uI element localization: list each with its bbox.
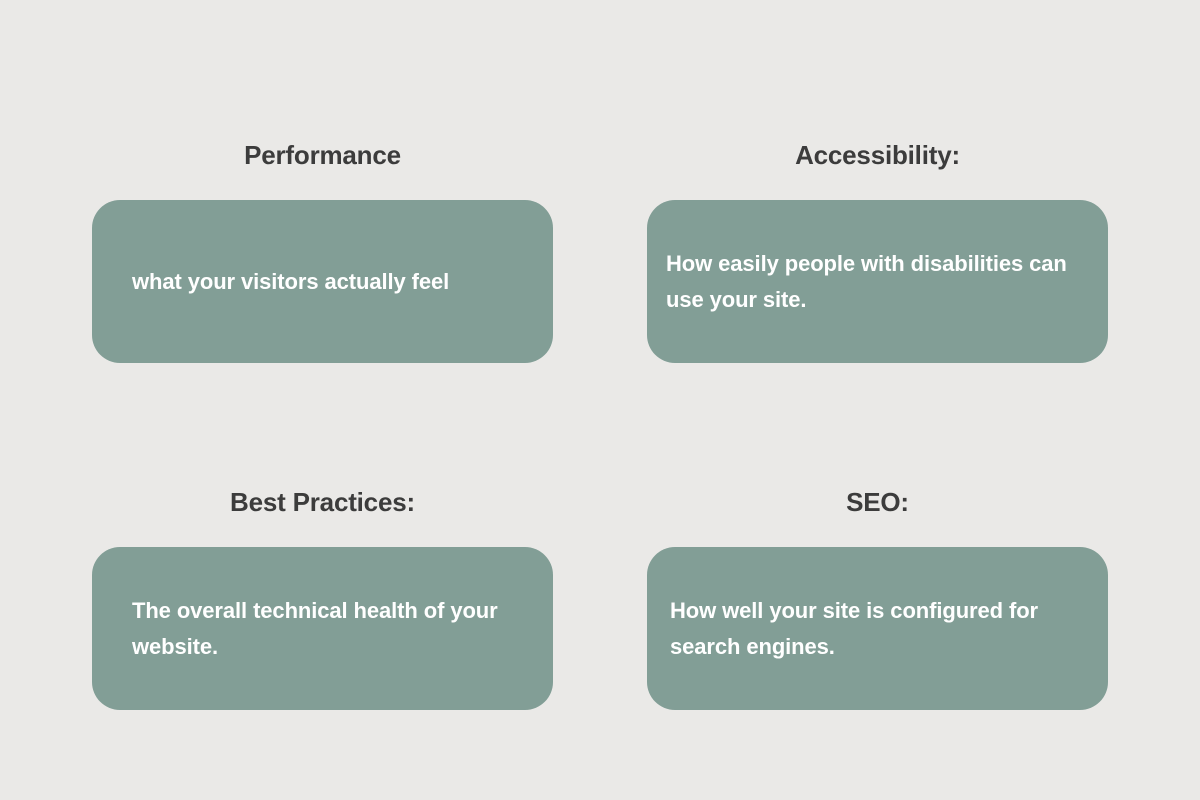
card-cell-performance: Performance what your visitors actually … — [92, 140, 553, 363]
cards-board: Performance what your visitors actually … — [0, 0, 1200, 800]
cards-grid: Performance what your visitors actually … — [92, 140, 1108, 710]
card-accessibility[interactable]: How easily people with disabilities can … — [647, 200, 1108, 363]
card-cell-seo: SEO: How well your site is configured fo… — [647, 487, 1108, 710]
card-cell-accessibility: Accessibility: How easily people with di… — [647, 140, 1108, 363]
card-heading-seo: SEO: — [647, 487, 1108, 518]
card-body-best-practices: The overall technical health of your web… — [92, 593, 553, 664]
card-body-accessibility: How easily people with disabilities can … — [647, 246, 1108, 317]
card-heading-performance: Performance — [92, 140, 553, 171]
card-heading-best-practices: Best Practices: — [92, 487, 553, 518]
card-body-performance: what your visitors actually feel — [92, 264, 485, 300]
card-heading-accessibility: Accessibility: — [647, 140, 1108, 171]
card-performance[interactable]: what your visitors actually feel — [92, 200, 553, 363]
card-seo[interactable]: How well your site is configured for sea… — [647, 547, 1108, 710]
card-best-practices[interactable]: The overall technical health of your web… — [92, 547, 553, 710]
card-body-seo: How well your site is configured for sea… — [647, 593, 1108, 664]
card-cell-best-practices: Best Practices: The overall technical he… — [92, 487, 553, 710]
